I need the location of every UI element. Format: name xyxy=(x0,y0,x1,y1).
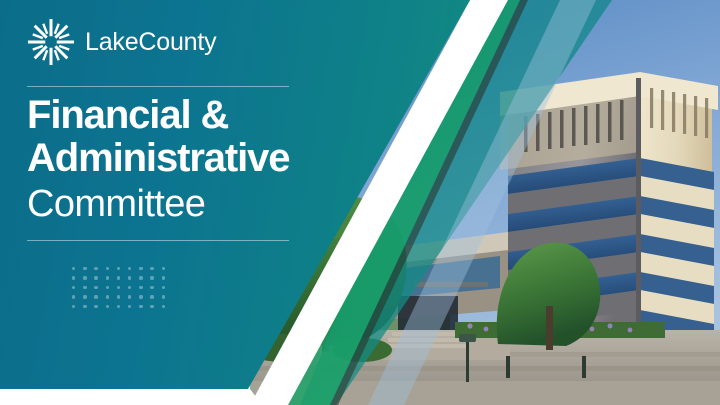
dot xyxy=(128,276,131,279)
dot xyxy=(162,305,165,308)
dot xyxy=(72,305,75,308)
slide-canvas: LakeCounty Financial & Administrative Co… xyxy=(0,0,720,405)
dot xyxy=(106,305,109,308)
divider-top xyxy=(27,86,289,87)
dot-grid-decoration xyxy=(72,267,173,314)
dot xyxy=(83,305,86,308)
dot xyxy=(150,305,153,308)
dot xyxy=(117,286,120,289)
dot xyxy=(162,276,165,279)
dot xyxy=(128,305,131,308)
brand-wordmark: LakeCounty xyxy=(85,30,216,55)
dot xyxy=(94,267,97,270)
dot xyxy=(83,276,86,279)
dot xyxy=(139,286,142,289)
page-title: Financial & Administrative Committee xyxy=(27,94,427,226)
dot xyxy=(162,295,165,298)
dot xyxy=(94,295,97,298)
starburst-icon xyxy=(27,18,75,66)
dot xyxy=(83,286,86,289)
title-primary: Financial & Administrative xyxy=(27,94,427,180)
dot xyxy=(128,286,131,289)
dot xyxy=(94,276,97,279)
dot xyxy=(72,286,75,289)
dot xyxy=(162,267,165,270)
dot xyxy=(139,305,142,308)
dot xyxy=(83,295,86,298)
dot xyxy=(83,267,86,270)
dot xyxy=(162,286,165,289)
divider-bottom xyxy=(27,240,289,241)
dot xyxy=(106,286,109,289)
dot xyxy=(72,267,75,270)
dot xyxy=(139,276,142,279)
dot xyxy=(139,267,142,270)
dot xyxy=(128,295,131,298)
dot xyxy=(150,295,153,298)
dot xyxy=(106,276,109,279)
dot xyxy=(128,267,131,270)
panel-content: LakeCounty Financial & Administrative Co… xyxy=(0,0,470,405)
dot xyxy=(94,286,97,289)
dot xyxy=(150,286,153,289)
dot xyxy=(117,295,120,298)
dot xyxy=(150,276,153,279)
dot xyxy=(72,276,75,279)
dot xyxy=(117,305,120,308)
dot xyxy=(106,267,109,270)
dot xyxy=(150,267,153,270)
dot xyxy=(72,295,75,298)
dot xyxy=(117,267,120,270)
dot xyxy=(139,295,142,298)
brand-logo: LakeCounty xyxy=(27,18,216,66)
title-secondary: Committee xyxy=(27,182,427,227)
dot xyxy=(117,276,120,279)
dot xyxy=(106,295,109,298)
dot xyxy=(94,305,97,308)
